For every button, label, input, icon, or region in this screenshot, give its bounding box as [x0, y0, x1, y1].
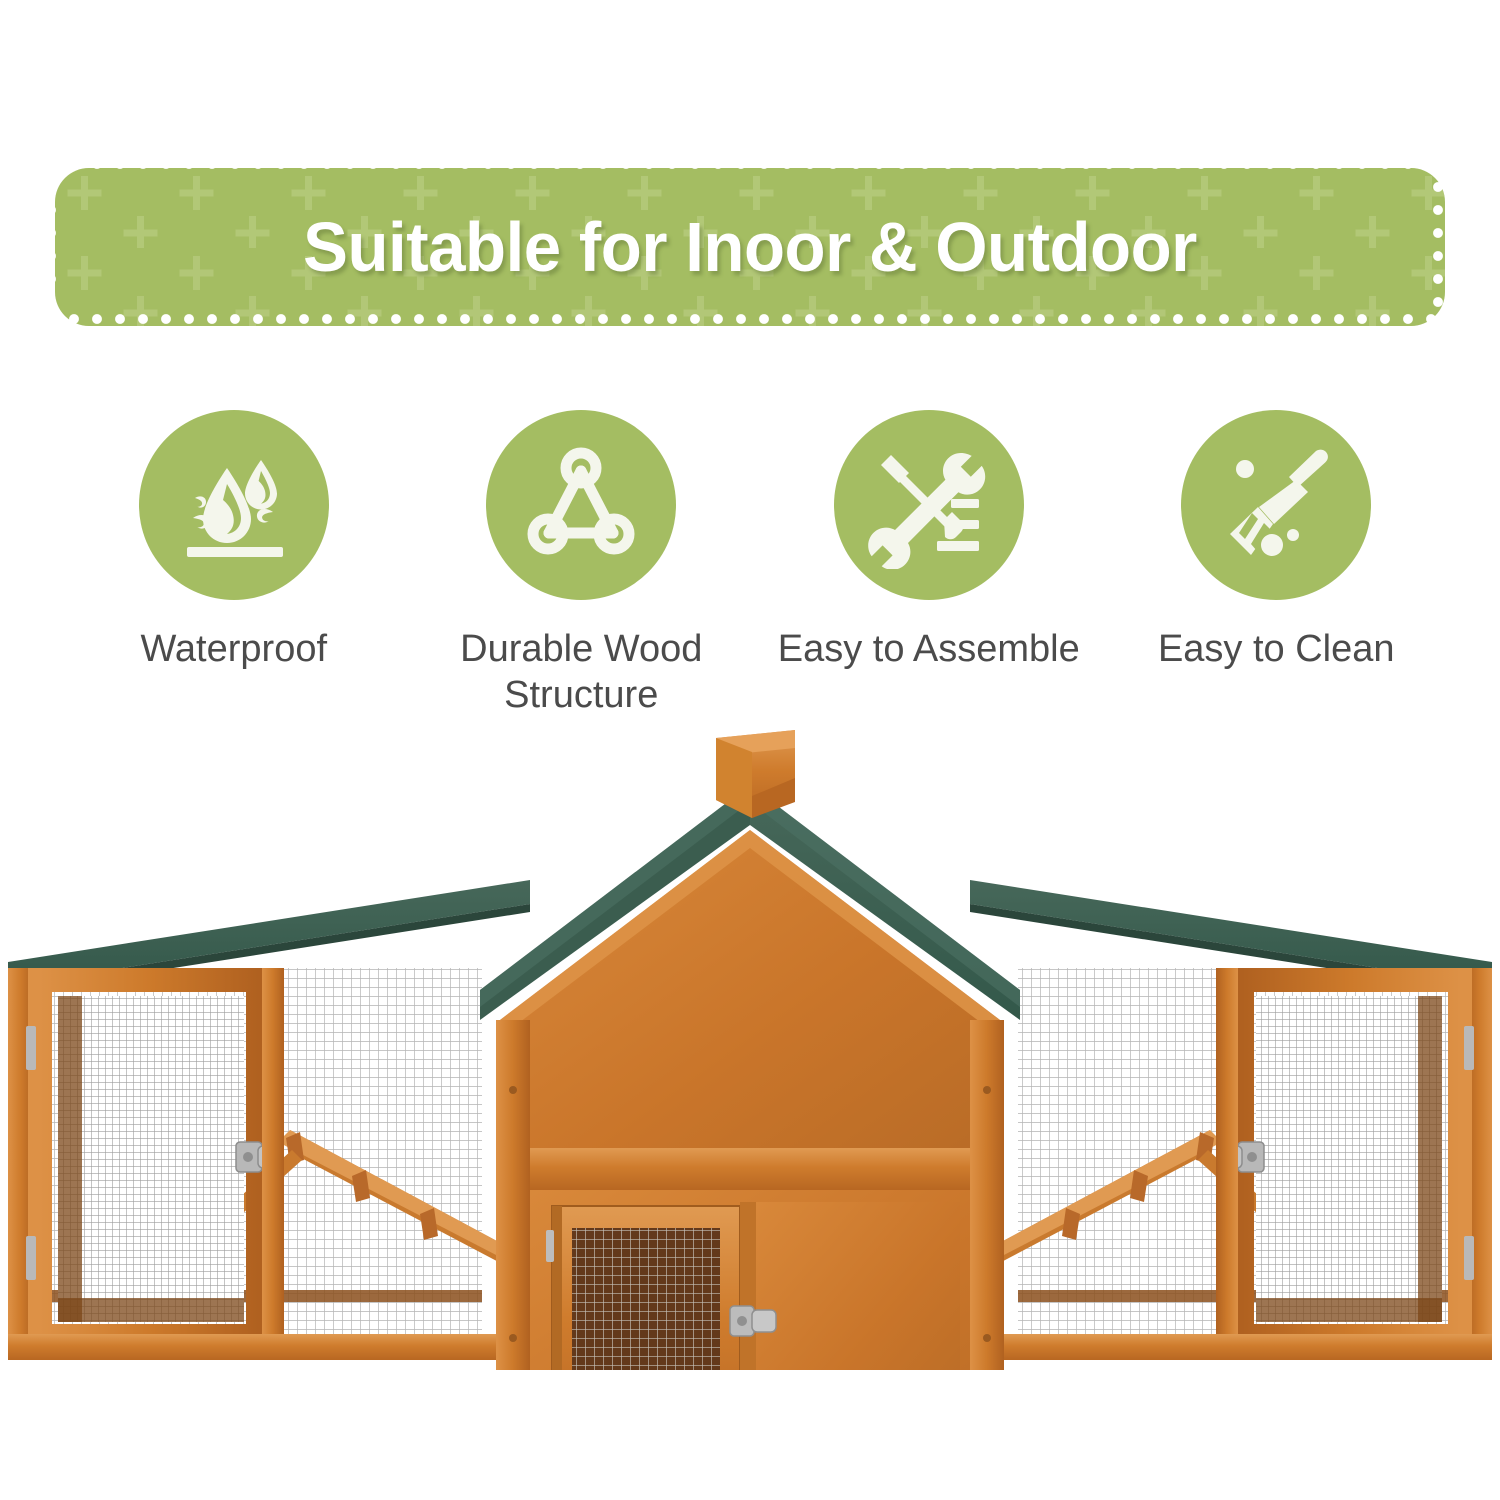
- headline-banner: Suitable for Inoor & Outdoor: [45, 158, 1455, 336]
- banner-background: Suitable for Inoor & Outdoor: [55, 168, 1445, 326]
- hutch-left-post: [496, 1020, 530, 1370]
- wrench-screwdriver-icon: [834, 410, 1024, 600]
- upper-door-latch[interactable]: [730, 1306, 776, 1336]
- hinge: [546, 1230, 554, 1262]
- feature-item-waterproof: Waterproof: [60, 410, 408, 719]
- upper-door-mesh-panel: [572, 1228, 720, 1370]
- right-base-rail: [992, 1334, 1492, 1360]
- center-hutch: [480, 730, 1020, 1370]
- upper-hutch-solid-panel: [744, 1202, 960, 1370]
- right-run-section: [970, 880, 1492, 1360]
- feature-item-easy-to-clean: Easy to Clean: [1103, 410, 1451, 719]
- banner-title: Suitable for Inoor & Outdoor: [83, 212, 1417, 282]
- left-base-rail: [8, 1334, 508, 1360]
- ridge-cap: [716, 730, 795, 818]
- hutch-right-post: [970, 1020, 1004, 1370]
- feature-item-easy-to-assemble: Easy to Assemble: [755, 410, 1103, 719]
- triangle-node-structure-icon: [486, 410, 676, 600]
- broom-icon: [1181, 410, 1371, 600]
- feature-label-easy-to-assemble: Easy to Assemble: [778, 626, 1080, 672]
- upper-hutch-mesh-door[interactable]: [546, 1206, 740, 1370]
- hinge: [1464, 1026, 1474, 1070]
- hinge: [26, 1236, 36, 1280]
- waterproof-drop-icon: [139, 410, 329, 600]
- left-run-door[interactable]: [26, 980, 282, 1336]
- product-image-rabbit-hutch: [0, 690, 1500, 1370]
- hinge: [26, 1026, 36, 1070]
- gable-lower-band: [500, 1148, 1000, 1190]
- feature-item-durable-wood-structure: Durable Wood Structure: [408, 410, 756, 719]
- feature-label-easy-to-clean: Easy to Clean: [1158, 626, 1395, 672]
- left-run-section: [8, 880, 530, 1360]
- hinge: [1464, 1236, 1474, 1280]
- feature-label-waterproof: Waterproof: [140, 626, 327, 672]
- door-stile: [740, 1202, 756, 1370]
- feature-list: Waterproof Durable Wood Structure: [60, 410, 1450, 719]
- right-run-door[interactable]: [1218, 980, 1474, 1336]
- gable-front-panel: [500, 830, 1000, 1190]
